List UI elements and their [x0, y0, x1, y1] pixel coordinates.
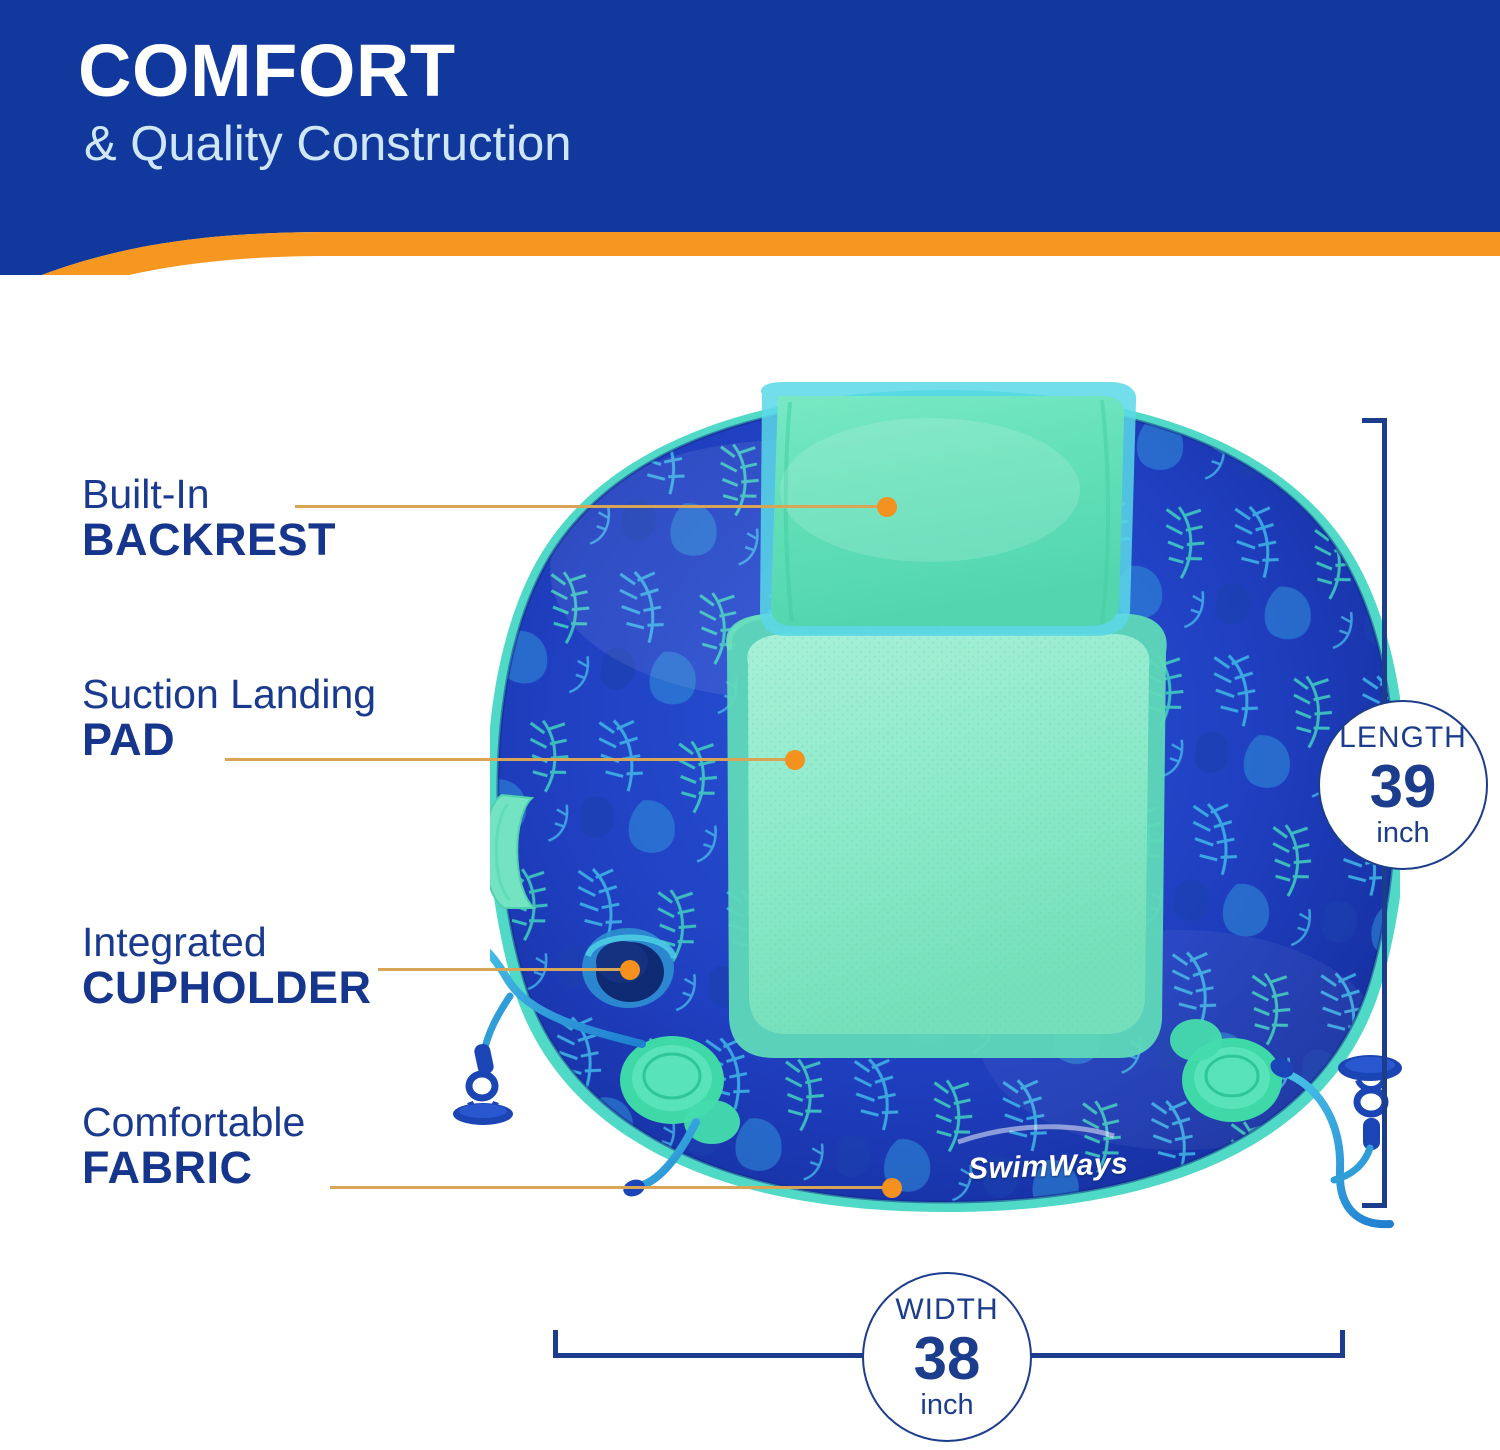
length-bracket-cap-top: [1362, 418, 1387, 423]
feature-cupholder-line1: Integrated: [82, 920, 372, 964]
length-bracket-cap-bottom: [1362, 1203, 1387, 1208]
leader-line-fabric: [330, 1186, 892, 1189]
width-value: 38: [914, 1327, 981, 1390]
leader-line-cupholder: [378, 968, 628, 971]
suction-cup-left: [440, 990, 560, 1150]
feature-fabric-line2: FABRIC: [82, 1144, 305, 1193]
feature-pad-line1: Suction Landing: [82, 672, 376, 716]
feature-fabric-line1: Comfortable: [82, 1100, 305, 1144]
feature-backrest-line2: BACKREST: [82, 516, 336, 565]
feature-fabric: Comfortable FABRIC: [82, 1100, 305, 1193]
feature-suction-landing-pad: Suction Landing PAD: [82, 672, 376, 765]
leader-line-pad: [225, 758, 795, 761]
page-title: COMFORT: [78, 34, 1178, 108]
mesh-seat: [726, 614, 1167, 1058]
width-bracket-cap-right: [1340, 1330, 1345, 1358]
width-label: WIDTH: [895, 1295, 998, 1325]
leader-dot-backrest: [877, 497, 897, 517]
leader-dot-cupholder: [620, 960, 640, 980]
backrest-pillow: [760, 382, 1136, 636]
header-text-block: COMFORT & Quality Construction: [78, 34, 1178, 169]
header-banner: COMFORT & Quality Construction: [0, 0, 1500, 275]
dimension-badge-width: WIDTH 38 inch: [862, 1272, 1032, 1442]
page-subtitle: & Quality Construction: [84, 120, 1178, 169]
feature-cupholder-line2: CUPHOLDER: [82, 964, 372, 1013]
feature-backrest-line1: Built-In: [82, 472, 336, 516]
leader-dot-fabric: [882, 1178, 902, 1198]
length-value: 39: [1370, 755, 1437, 818]
leader-dot-pad: [785, 750, 805, 770]
length-unit: inch: [1376, 819, 1429, 848]
width-unit: inch: [920, 1391, 973, 1420]
width-bracket-cap-left: [553, 1330, 558, 1358]
dimension-badge-length: LENGTH 39 inch: [1318, 700, 1488, 870]
feature-cupholder: Integrated CUPHOLDER: [82, 920, 372, 1013]
length-label: LENGTH: [1339, 723, 1467, 753]
feature-backrest: Built-In BACKREST: [82, 472, 336, 565]
leader-line-backrest: [295, 505, 890, 508]
infographic-canvas: COMFORT & Quality Construction: [0, 0, 1500, 1450]
product-image: [490, 380, 1400, 1240]
